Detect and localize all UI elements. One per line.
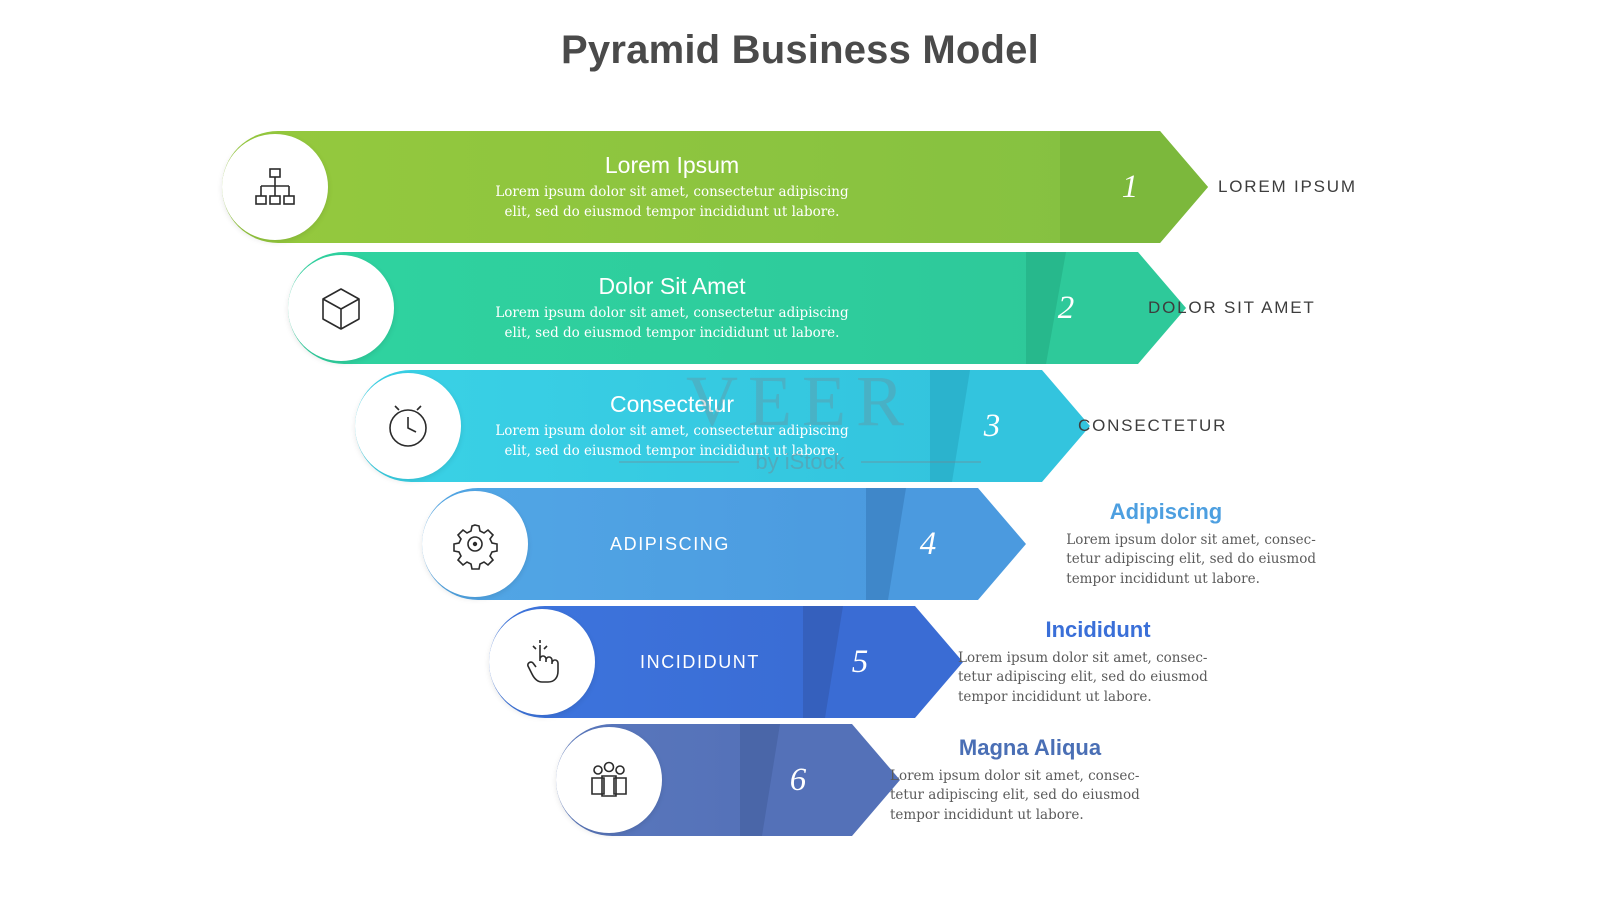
page-title: Pyramid Business Model [0,28,1600,73]
band-texts-3: Consectetur Lorem ipsum dolor sit amet, … [452,370,892,482]
side-title-3: CONSECTETUR [1078,416,1418,436]
band-texts-1: Lorem Ipsum Lorem ipsum dolor sit amet, … [452,131,892,243]
side-block-3: CONSECTETUR [1078,370,1418,482]
side-desc-4: Lorem ipsum dolor sit amet, consec- tetu… [1066,531,1316,590]
side-block-2: DOLOR SIT AMET [1148,252,1488,364]
side-desc-5: Lorem ipsum dolor sit amet, consec- tetu… [948,649,1248,708]
side-desc-6: Lorem ipsum dolor sit amet, consec- tetu… [880,767,1180,826]
band-desc-3: Lorem ipsum dolor sit amet, consectetur … [495,422,848,461]
side-block-1: LOREM IPSUM [1218,131,1548,243]
band-number-5: 5 [830,606,890,718]
side-block-6: Magna Aliqua Lorem ipsum dolor sit amet,… [880,724,1180,836]
side-title-1: LOREM IPSUM [1218,177,1548,197]
band-number-6: 6 [768,724,828,836]
band-desc-2: Lorem ipsum dolor sit amet, consectetur … [495,304,848,343]
side-title-2: DOLOR SIT AMET [1148,298,1488,318]
funnel-row-2[interactable]: Dolor Sit Amet Lorem ipsum dolor sit ame… [0,252,1600,364]
clock-icon [379,397,437,455]
band-number-3: 3 [962,370,1022,482]
band-heading-3: Consectetur [610,391,734,418]
side-title-5: Incididunt [1045,617,1150,643]
side-block-5: Incididunt Lorem ipsum dolor sit amet, c… [948,606,1248,718]
funnel-row-5[interactable]: INCIDIDUNT 5 Incididunt Lorem ipsum dolo… [0,606,1600,718]
side-block-4: Adipiscing Lorem ipsum dolor sit amet, c… [1016,488,1316,600]
band-number-1: 1 [1100,131,1160,243]
band-number-2: 2 [1036,252,1096,364]
cube-icon [314,281,368,335]
band-texts-4: ADIPISCING [470,488,870,600]
org-chart-icon [248,160,302,214]
icon-circle-6 [556,727,662,833]
icon-circle-2 [288,255,394,361]
side-title-6: Magna Aliqua [959,735,1101,761]
people-group-icon [581,752,637,808]
band-texts-2: Dolor Sit Amet Lorem ipsum dolor sit ame… [452,252,892,364]
icon-circle-3 [355,373,461,479]
funnel-row-4[interactable]: ADIPISCING 4 Adipiscing Lorem ipsum dolo… [0,488,1600,600]
infographic-canvas: Pyramid Business Model Lorem Ipsum [0,0,1600,900]
band-desc-1: Lorem ipsum dolor sit amet, consectetur … [495,183,848,222]
band-heading-5: INCIDIDUNT [640,652,760,673]
funnel-row-1[interactable]: Lorem Ipsum Lorem ipsum dolor sit amet, … [0,131,1600,243]
funnel-row-6[interactable]: 6 Magna Aliqua Lorem ipsum dolor sit ame… [0,724,1600,836]
side-title-4: Adipiscing [1110,499,1222,525]
band-texts-5: INCIDIDUNT [540,606,860,718]
band-heading-1: Lorem Ipsum [605,152,739,179]
icon-circle-1 [222,134,328,240]
band-heading-4: ADIPISCING [610,534,730,555]
funnel-row-3[interactable]: Consectetur Lorem ipsum dolor sit amet, … [0,370,1600,482]
band-number-4: 4 [898,488,958,600]
band-heading-2: Dolor Sit Amet [599,273,746,300]
